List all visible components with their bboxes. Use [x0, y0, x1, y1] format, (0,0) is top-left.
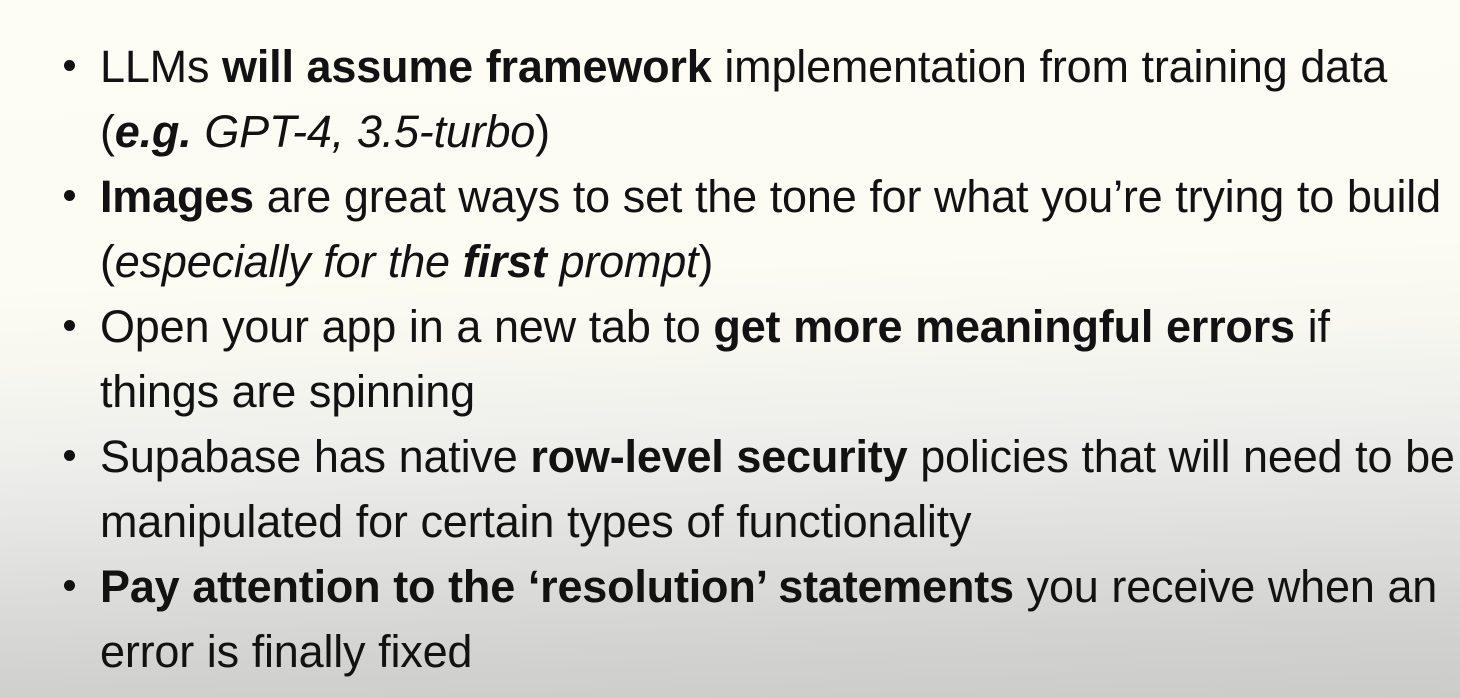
bullet-text: Supabase has native row-level security p…: [100, 424, 1460, 554]
text-run-bold: get more meaningful errors: [713, 301, 1294, 352]
slide-canvas: LLMs will assume framework implementatio…: [0, 0, 1460, 698]
bullet-text: Pay attention to the ‘resolution’ statem…: [100, 554, 1460, 684]
bullet-list: LLMs will assume framework implementatio…: [0, 34, 1460, 684]
bullet-point-icon: [64, 60, 75, 71]
bullet-images-set-tone: Images are great ways to set the tone fo…: [0, 164, 1460, 294]
text-run-bold: Images: [100, 171, 254, 222]
bullet-point-icon: [64, 580, 75, 591]
text-run-regular: ): [535, 106, 550, 157]
text-run-regular: ): [698, 236, 713, 287]
bullet-llms-assume-framework: LLMs will assume framework implementatio…: [0, 34, 1460, 164]
text-run-bold: will assume framework: [222, 41, 712, 92]
text-run-italic: GPT-4, 3.5-turbo: [192, 106, 536, 157]
bullet-point-icon: [64, 190, 75, 201]
text-run-bold: row-level security: [530, 431, 907, 482]
bullet-point-icon: [64, 320, 75, 331]
text-run-regular: LLMs: [100, 41, 222, 92]
text-run-regular: Supabase has native: [100, 431, 530, 482]
text-run-bold: Pay attention to the ‘resolution’ statem…: [100, 561, 1014, 612]
text-run-regular: Open your app in a new tab to: [100, 301, 713, 352]
bullet-text: LLMs will assume framework implementatio…: [100, 34, 1460, 164]
bullet-open-app-new-tab: Open your app in a new tab to get more m…: [0, 294, 1460, 424]
text-run-bold-italic: first: [463, 236, 547, 287]
text-run-bold-italic: e.g.: [115, 106, 192, 157]
text-run-italic: especially for the: [115, 236, 463, 287]
bullet-text: Images are great ways to set the tone fo…: [100, 164, 1460, 294]
bullet-supabase-row-level-security: Supabase has native row-level security p…: [0, 424, 1460, 554]
bullet-resolution-statements: Pay attention to the ‘resolution’ statem…: [0, 554, 1460, 684]
bullet-text: Open your app in a new tab to get more m…: [100, 294, 1460, 424]
bullet-point-icon: [64, 450, 75, 461]
text-run-italic: prompt: [547, 236, 699, 287]
